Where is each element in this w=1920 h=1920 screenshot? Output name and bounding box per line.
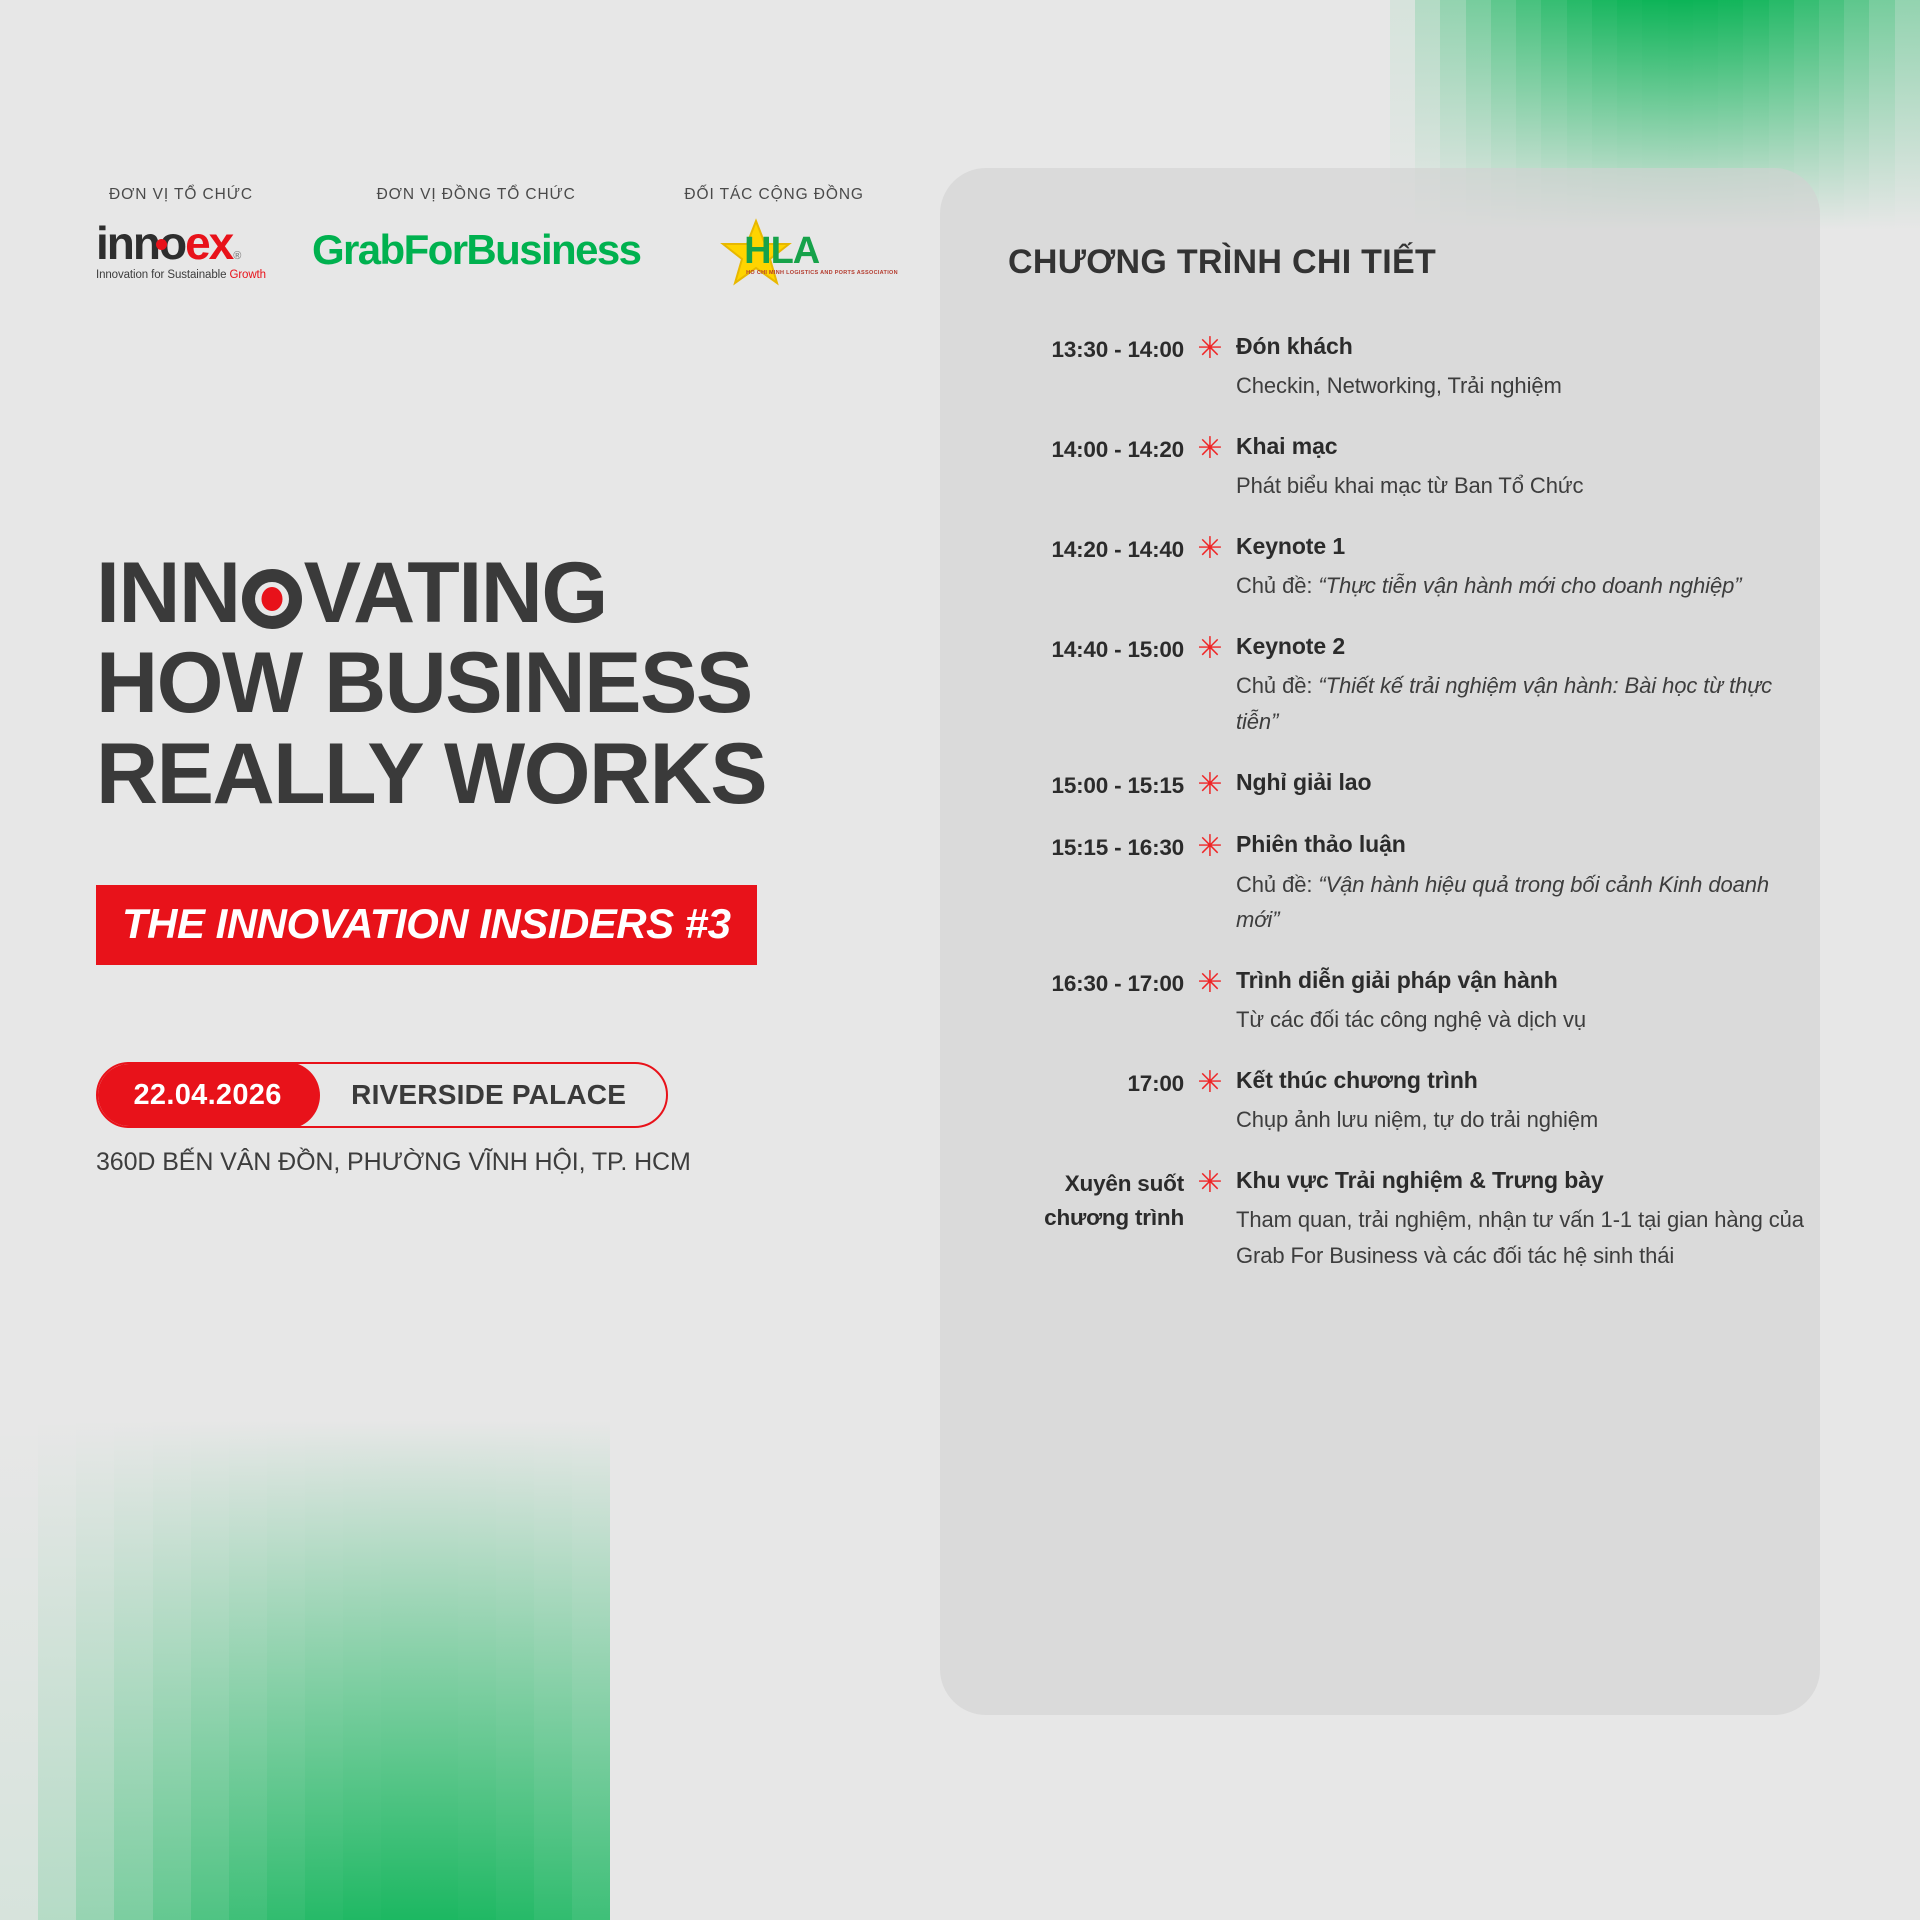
grab-for-business-wordmark: GrabForBusiness	[312, 226, 640, 274]
event-venue-name: RIVERSIDE PALACE	[317, 1064, 666, 1126]
agenda-item-time: Xuyên suốt chương trình	[1008, 1164, 1184, 1235]
agenda-item-desc-quote: “Thực tiễn vận hành mới cho doanh nghiệp…	[1318, 573, 1741, 598]
agenda-item-description: Từ các đối tác công nghệ và dịch vụ	[1236, 1002, 1808, 1038]
event-date-chip: 22.04.2026	[96, 1062, 320, 1128]
agenda-item-description: Chụp ảnh lưu niệm, tự do trải nghiệm	[1236, 1102, 1808, 1138]
asterisk-icon: ✳	[1184, 530, 1236, 567]
agenda-item-body: Keynote 2Chủ đề: “Thiết kế trải nghiệm v…	[1236, 630, 1808, 740]
agenda-item: 17:00✳Kết thúc chương trìnhChụp ảnh lưu …	[1008, 1064, 1808, 1138]
stripe	[0, 1420, 38, 1920]
headline-line-2: HOW BUSINESS	[96, 638, 766, 728]
agenda-item: 13:30 - 14:00✳Đón kháchCheckin, Networki…	[1008, 330, 1808, 404]
agenda-item-body: Đón kháchCheckin, Networking, Trải nghiệ…	[1236, 330, 1808, 404]
hla-logo: HLA HO CHI MINH LOGISTICS AND PORTS ASSO…	[718, 222, 830, 278]
innoex-tagline: Innovation for Sustainable Growth	[96, 269, 266, 281]
target-ring-icon	[242, 569, 302, 629]
agenda-list: 13:30 - 14:00✳Đón kháchCheckin, Networki…	[1008, 330, 1808, 1299]
stripe	[267, 1420, 305, 1920]
agenda-item-time: 13:30 - 14:00	[1008, 330, 1184, 367]
stripe	[38, 1420, 76, 1920]
agenda-item-time: 17:00	[1008, 1064, 1184, 1101]
stripe	[381, 1420, 419, 1920]
agenda-item-time: 16:30 - 17:00	[1008, 964, 1184, 1001]
page-title: INNVATING HOW BUSINESS REALLY WORKS	[96, 548, 766, 819]
stripe	[572, 1420, 610, 1920]
agenda-item-title: Đón khách	[1236, 330, 1808, 363]
stripe	[229, 1420, 267, 1920]
sponsor-community-partner: ĐỐI TÁC CỘNG ĐỒNG HLA HO CHI MINH LOGIST…	[684, 186, 864, 278]
agenda-item: 14:20 - 14:40✳Keynote 1Chủ đề: “Thực tiễ…	[1008, 530, 1808, 604]
innoex-tagline-accent: Growth	[229, 269, 265, 281]
event-poster: ĐƠN VỊ TỔ CHỨC innoex® Innovation for Su…	[0, 0, 1920, 1920]
subtitle-banner: THE INNOVATION INSIDERS #3	[96, 885, 757, 965]
agenda-item-description: Chủ đề: “Thiết kế trải nghiệm vận hành: …	[1236, 668, 1808, 739]
asterisk-icon: ✳	[1184, 330, 1236, 367]
registered-trademark-icon: ®	[233, 251, 239, 262]
headline-line-3: REALLY WORKS	[96, 729, 766, 819]
green-stripes-bottom-decoration	[0, 1420, 610, 1920]
agenda-item-time: 14:40 - 15:00	[1008, 630, 1184, 667]
event-address: 360D BẾN VÂN ĐỒN, PHƯỜNG VĨNH HỘI, TP. H…	[96, 1148, 691, 1177]
stripe	[343, 1420, 381, 1920]
hla-subtitle: HO CHI MINH LOGISTICS AND PORTS ASSOCIAT…	[746, 270, 898, 276]
agenda-item-desc-prefix: Chủ đề:	[1236, 673, 1318, 698]
agenda-item-time: 15:00 - 15:15	[1008, 766, 1184, 803]
innoex-dot-icon	[156, 239, 167, 250]
sponsor-row: ĐƠN VỊ TỔ CHỨC innoex® Innovation for Su…	[96, 186, 864, 278]
agenda-item-body: Trình diễn giải pháp vận hànhTừ các đối …	[1236, 964, 1808, 1038]
innoex-tagline-plain: Innovation for Sustainable	[96, 269, 229, 281]
stripe	[1819, 0, 1844, 230]
stripe	[1869, 0, 1894, 230]
agenda-item-body: Nghỉ giải lao	[1236, 766, 1808, 799]
agenda-item-title: Khu vực Trải nghiệm & Trưng bày	[1236, 1164, 1808, 1197]
agenda-item-description: Tham quan, trải nghiệm, nhận tư vấn 1-1 …	[1236, 1202, 1808, 1273]
agenda-item-title: Kết thúc chương trình	[1236, 1064, 1808, 1097]
asterisk-icon: ✳	[1184, 964, 1236, 1001]
agenda-item-description: Phát biểu khai mạc từ Ban Tổ Chức	[1236, 468, 1808, 504]
hla-wordmark: HLA	[744, 232, 819, 270]
headline-line-1: INNVATING	[96, 548, 766, 638]
innoex-wordmark-dark: inn	[96, 220, 159, 266]
agenda-item-title: Khai mạc	[1236, 430, 1808, 463]
sponsor-label-community-partner: ĐỐI TÁC CỘNG ĐỒNG	[684, 186, 864, 204]
innoex-wordmark-red: ex	[185, 220, 232, 266]
agenda-item-body: Keynote 1Chủ đề: “Thực tiễn vận hành mới…	[1236, 530, 1808, 604]
sponsor-co-organizer: ĐƠN VỊ ĐỒNG TỔ CHỨC GrabForBusiness	[312, 186, 640, 278]
date-venue-pill: 22.04.2026 RIVERSIDE PALACE	[96, 1062, 668, 1128]
stripe	[114, 1420, 152, 1920]
stripe	[305, 1420, 343, 1920]
agenda-item: 15:00 - 15:15✳Nghỉ giải lao	[1008, 766, 1808, 803]
agenda-item-title: Phiên thảo luận	[1236, 828, 1808, 861]
headline-line-1-after: VATING	[304, 545, 607, 641]
agenda-item-description: Checkin, Networking, Trải nghiệm	[1236, 368, 1808, 404]
agenda-item-desc-prefix: Chủ đề:	[1236, 573, 1318, 598]
stripe	[419, 1420, 457, 1920]
agenda-item-description: Chủ đề: “Thực tiễn vận hành mới cho doan…	[1236, 568, 1808, 604]
agenda-item-title: Keynote 1	[1236, 530, 1808, 563]
headline-line-1-before: INN	[96, 545, 240, 641]
stripe	[153, 1420, 191, 1920]
asterisk-icon: ✳	[1184, 1064, 1236, 1101]
stripe	[1844, 0, 1869, 230]
agenda-item: 14:40 - 15:00✳Keynote 2Chủ đề: “Thiết kế…	[1008, 630, 1808, 740]
asterisk-icon: ✳	[1184, 1164, 1236, 1201]
stripe	[534, 1420, 572, 1920]
agenda-title: CHƯƠNG TRÌNH CHI TIẾT	[1008, 243, 1436, 282]
sponsor-label-co-organizer: ĐƠN VỊ ĐỒNG TỔ CHỨC	[377, 186, 576, 204]
agenda-item: Xuyên suốt chương trình✳Khu vực Trải ngh…	[1008, 1164, 1808, 1274]
asterisk-icon: ✳	[1184, 430, 1236, 467]
agenda-item-body: Khai mạcPhát biểu khai mạc từ Ban Tổ Chứ…	[1236, 430, 1808, 504]
stripe	[458, 1420, 496, 1920]
agenda-item-title: Trình diễn giải pháp vận hành	[1236, 964, 1808, 997]
agenda-item-body: Khu vực Trải nghiệm & Trưng bàyTham quan…	[1236, 1164, 1808, 1274]
agenda-item: 16:30 - 17:00✳Trình diễn giải pháp vận h…	[1008, 964, 1808, 1038]
agenda-item-time: 14:20 - 14:40	[1008, 530, 1184, 567]
innoex-logo: innoex® Innovation for Sustainable Growt…	[96, 222, 266, 278]
stripe	[191, 1420, 229, 1920]
agenda-item-time: 14:00 - 14:20	[1008, 430, 1184, 467]
asterisk-icon: ✳	[1184, 828, 1236, 865]
asterisk-icon: ✳	[1184, 630, 1236, 667]
stripe	[1895, 0, 1920, 230]
agenda-item-desc-prefix: Chủ đề:	[1236, 872, 1318, 897]
agenda-item-title: Keynote 2	[1236, 630, 1808, 663]
agenda-item-description: Chủ đề: “Vận hành hiệu quả trong bối cản…	[1236, 867, 1808, 938]
asterisk-icon: ✳	[1184, 766, 1236, 803]
sponsor-label-organizer: ĐƠN VỊ TỔ CHỨC	[109, 186, 253, 204]
agenda-item: 15:15 - 16:30✳Phiên thảo luậnChủ đề: “Vậ…	[1008, 828, 1808, 938]
grab-for-business-logo: GrabForBusiness	[312, 222, 640, 278]
agenda-item-body: Phiên thảo luậnChủ đề: “Vận hành hiệu qu…	[1236, 828, 1808, 938]
agenda-item: 14:00 - 14:20✳Khai mạcPhát biểu khai mạc…	[1008, 430, 1808, 504]
stripe	[76, 1420, 114, 1920]
agenda-item-title: Nghỉ giải lao	[1236, 766, 1808, 799]
agenda-item-body: Kết thúc chương trìnhChụp ảnh lưu niệm, …	[1236, 1064, 1808, 1138]
sponsor-organizer: ĐƠN VỊ TỔ CHỨC innoex® Innovation for Su…	[96, 186, 266, 278]
agenda-item-time: 15:15 - 16:30	[1008, 828, 1184, 865]
stripe	[496, 1420, 534, 1920]
